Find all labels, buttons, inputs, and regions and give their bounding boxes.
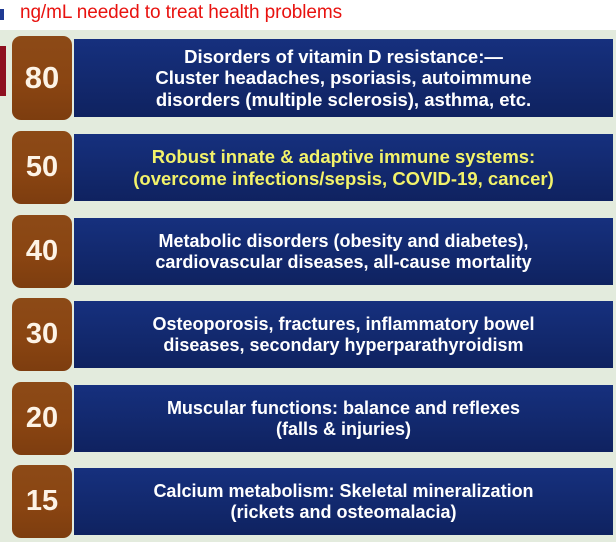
level-value-box: 50 xyxy=(12,131,72,204)
condition-bar: Muscular functions: balance and reflexes… xyxy=(74,385,613,452)
condition-line-1: Metabolic disorders (obesity and diabete… xyxy=(158,231,528,251)
condition-bar: Osteoporosis, fractures, inflammatory bo… xyxy=(74,301,613,368)
level-value: 80 xyxy=(25,60,59,96)
left-accent-marker xyxy=(0,46,6,96)
level-value-box: 30 xyxy=(12,298,72,371)
level-value-box: 20 xyxy=(12,382,72,455)
level-value-box: 80 xyxy=(12,36,72,120)
condition-line-2: diseases, secondary hyperparathyroidism xyxy=(163,335,523,355)
chart-row: 50 Robust innate & adaptive immune syste… xyxy=(0,131,616,204)
condition-bar-highlighted: Robust innate & adaptive immune systems:… xyxy=(74,134,613,201)
condition-line-1: Muscular functions: balance and reflexes xyxy=(167,398,520,418)
condition-line-2: cardiovascular diseases, all-cause morta… xyxy=(155,252,531,272)
header-left-marker xyxy=(0,9,4,20)
chart-row: 20 Muscular functions: balance and refle… xyxy=(0,382,616,455)
condition-bar: Metabolic disorders (obesity and diabete… xyxy=(74,218,613,285)
level-value: 20 xyxy=(26,402,58,435)
condition-line-2: Cluster headaches, psoriasis, autoimmune xyxy=(155,67,531,88)
condition-bar: Calcium metabolism: Skeletal mineralizat… xyxy=(74,468,613,535)
header-band: ng/mL needed to treat health problems xyxy=(0,0,616,30)
level-value-box: 15 xyxy=(12,465,72,538)
condition-line-1: Disorders of vitamin D resistance:— xyxy=(184,46,503,67)
condition-line-1: Robust innate & adaptive immune systems: xyxy=(152,146,535,167)
condition-line-3: disorders (multiple sclerosis), asthma, … xyxy=(156,89,531,110)
condition-line-2: (falls & injuries) xyxy=(276,419,411,439)
chart-row: 40 Metabolic disorders (obesity and diab… xyxy=(0,215,616,288)
condition-line-1: Calcium metabolism: Skeletal mineralizat… xyxy=(153,481,533,501)
condition-line-2: (overcome infections/sepsis, COVID-19, c… xyxy=(133,168,554,189)
condition-line-1: Osteoporosis, fractures, inflammatory bo… xyxy=(152,314,534,334)
vitamin-d-level-chart: 80 Disorders of vitamin D resistance:— C… xyxy=(0,30,616,542)
level-value: 40 xyxy=(26,235,58,268)
chart-row: 80 Disorders of vitamin D resistance:— C… xyxy=(0,36,616,120)
level-value-box: 40 xyxy=(12,215,72,288)
condition-bar: Disorders of vitamin D resistance:— Clus… xyxy=(74,39,613,117)
page-title: ng/mL needed to treat health problems xyxy=(20,2,342,24)
level-value: 15 xyxy=(26,485,58,518)
chart-row: 15 Calcium metabolism: Skeletal minerali… xyxy=(0,465,616,538)
level-value: 30 xyxy=(26,318,58,351)
condition-line-2: (rickets and osteomalacia) xyxy=(230,502,456,522)
level-value: 50 xyxy=(26,151,58,184)
chart-row: 30 Osteoporosis, fractures, inflammatory… xyxy=(0,298,616,371)
